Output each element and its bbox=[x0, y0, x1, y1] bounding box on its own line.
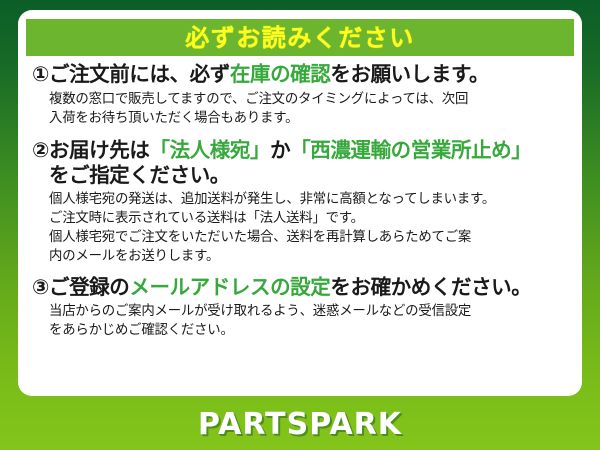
notice-list: ①ご注文前には、必ず在庫の確認をお願いします。 複数の窓口で販売してますので、ご… bbox=[26, 56, 574, 341]
notice-item-2: ②お届け先は「法人様宛」か「西濃運輸の営業所止め」 をご指定ください。 個人様宅… bbox=[32, 138, 570, 266]
notice-item-3-heading-highlight: メールアドレスの設定 bbox=[129, 275, 330, 299]
notice-item-1-body: 複数の窓口で販売してますので、ご注文のタイミングによっては、次回 入荷をお待ち頂… bbox=[32, 90, 570, 128]
notice-item-1-body-line-0: 複数の窓口で販売してますので、ご注文のタイミングによっては、次回 bbox=[49, 90, 570, 109]
notice-item-3-body: 当店からのご案内メールが受け取れるよう、迷惑メールなどの受信設定 をあらかじめご… bbox=[32, 302, 570, 340]
notice-item-2-heading: ②お届け先は「法人様宛」か「西濃運輸の営業所止め」 をご指定ください。 bbox=[32, 138, 570, 188]
notice-item-1: ①ご注文前には、必ず在庫の確認をお願いします。 複数の窓口で販売してますので、ご… bbox=[32, 62, 570, 128]
page-title: 必ずお読みください bbox=[185, 26, 415, 50]
notice-item-1-body-line-1: 入荷をお待ち頂いただく場合もあります。 bbox=[49, 109, 570, 128]
notice-item-2-number: ② bbox=[32, 138, 49, 162]
notice-item-3-body-line-0: 当店からのご案内メールが受け取れるよう、迷惑メールなどの受信設定 bbox=[49, 302, 570, 321]
notice-item-1-heading: ①ご注文前には、必ず在庫の確認をお願いします。 bbox=[32, 62, 570, 88]
notice-item-2-heading-line2: をご指定ください。 bbox=[32, 163, 570, 188]
notice-item-3-number: ③ bbox=[32, 275, 49, 299]
footer-bar: PARTSPARK bbox=[0, 398, 600, 450]
notice-poster: 必ずお読みください ①ご注文前には、必ず在庫の確認をお願いします。 複数の窓口で… bbox=[0, 0, 600, 450]
title-band: 必ずお読みください bbox=[26, 19, 574, 56]
notice-item-2-heading-highlight-1: 「法人様宛」 bbox=[149, 138, 270, 162]
notice-item-1-heading-part-2: をお願いします。 bbox=[330, 62, 489, 86]
notice-item-2-heading-part-2: か bbox=[270, 138, 290, 162]
notice-item-2-heading-part-0: お届け先は bbox=[49, 138, 150, 162]
notice-item-3: ③ご登録のメールアドレスの設定をお確かめください。 当店からのご案内メールが受け… bbox=[32, 275, 570, 341]
notice-item-2-body-line-3: 内のメールをお送りします。 bbox=[49, 247, 570, 266]
brand-logo: PARTSPARK bbox=[198, 407, 402, 442]
notice-item-1-heading-part-0: ご注文前には、必ず bbox=[49, 62, 230, 86]
notice-item-2-body-line-1: ご注文時に表示されている送料は「法人送料」です。 bbox=[49, 209, 570, 228]
notice-item-3-heading-part-0: ご登録の bbox=[49, 275, 129, 299]
notice-item-2-body: 個人様宅宛の発送は、追加送料が発生し、非常に高額となってしまいます。 ご注文時に… bbox=[32, 190, 570, 266]
notice-item-1-number: ① bbox=[32, 62, 49, 86]
notice-item-3-body-line-1: をあらかじめご確認ください。 bbox=[49, 321, 570, 340]
notice-item-1-heading-highlight: 在庫の確認 bbox=[230, 62, 331, 86]
notice-item-3-heading: ③ご登録のメールアドレスの設定をお確かめください。 bbox=[32, 275, 570, 301]
notice-item-2-body-line-0: 個人様宅宛の発送は、追加送料が発生し、非常に高額となってしまいます。 bbox=[49, 190, 570, 209]
notice-item-3-heading-part-2: をお確かめください。 bbox=[330, 275, 531, 299]
notice-item-2-body-line-2: 個人様宅宛でご注文をいただいた場合、送料を再計算しあらためてご案 bbox=[49, 228, 570, 247]
notice-item-2-heading-highlight-2: 「西濃運輸の営業所止め」 bbox=[290, 138, 531, 162]
notice-card: 必ずお読みください ①ご注文前には、必ず在庫の確認をお願いします。 複数の窓口で… bbox=[18, 10, 582, 396]
